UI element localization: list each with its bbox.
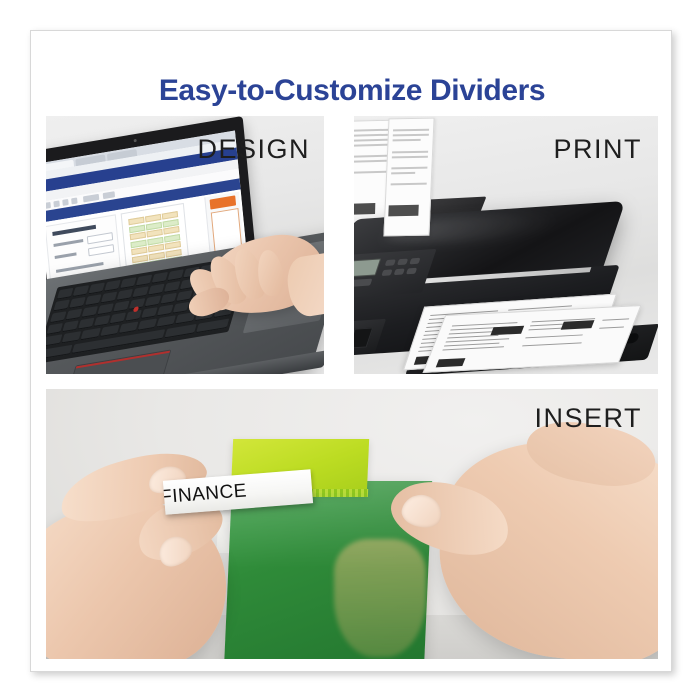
key[interactable]: [62, 331, 82, 343]
key[interactable]: [113, 301, 130, 313]
printed-text-line: [442, 346, 504, 350]
printer-button[interactable]: [397, 259, 408, 266]
sheet-text-line: [392, 151, 428, 153]
toolbar-icon: [103, 191, 115, 199]
form-heading: [52, 225, 96, 236]
key[interactable]: [50, 311, 67, 323]
printed-tab-bar: [436, 358, 466, 367]
printer-power-button[interactable]: [354, 279, 372, 288]
laptop-illustration: [46, 140, 324, 374]
toolbar-icon: [46, 202, 51, 209]
key[interactable]: [46, 323, 63, 335]
sheet-text-line: [354, 171, 387, 173]
panel-caption-design: DESIGN: [197, 134, 310, 165]
printer-button[interactable]: [409, 258, 420, 265]
key[interactable]: [141, 307, 158, 319]
key[interactable]: [46, 345, 72, 360]
form-label: [55, 252, 77, 259]
form-input[interactable]: [87, 232, 113, 244]
panel-print[interactable]: PRINT: [354, 116, 658, 374]
toolbar-icon: [53, 200, 59, 207]
panel-caption-print: PRINT: [554, 134, 643, 165]
sheet-text-line: [393, 129, 429, 131]
key[interactable]: [81, 328, 101, 340]
key[interactable]: [53, 299, 70, 311]
preview-header-band: [210, 195, 237, 209]
key[interactable]: [73, 285, 90, 297]
label-text: FINANCE: [163, 480, 248, 509]
sheet-text-line: [354, 144, 392, 147]
key[interactable]: [46, 334, 63, 346]
key[interactable]: [148, 284, 165, 296]
printed-text-line: [602, 318, 629, 321]
panel-caption-insert: INSERT: [534, 403, 642, 434]
key[interactable]: [94, 315, 111, 327]
form-label: [53, 239, 83, 247]
key[interactable]: [100, 325, 120, 337]
key[interactable]: [57, 288, 74, 300]
sheet-tab-bar: [354, 203, 375, 215]
key[interactable]: [78, 318, 95, 330]
printer-lcd-display: [354, 258, 381, 277]
sheet-text-line: [393, 139, 421, 141]
toolbar-icon: [62, 199, 68, 206]
sheet-text-line: [391, 167, 427, 169]
printer-button[interactable]: [394, 269, 405, 276]
key[interactable]: [81, 306, 98, 318]
key[interactable]: [97, 303, 114, 315]
key[interactable]: [132, 286, 149, 298]
key[interactable]: [101, 292, 118, 304]
product-feature-card: Easy-to-Customize Dividers: [30, 30, 672, 672]
key[interactable]: [88, 282, 105, 294]
sheet-text-line: [392, 156, 428, 158]
sheet-text-line: [393, 134, 429, 136]
webcam-icon: [133, 139, 136, 142]
key[interactable]: [120, 277, 137, 289]
panel-insert[interactable]: FINANCE INSERT: [46, 389, 658, 659]
key[interactable]: [66, 309, 83, 321]
panel-design[interactable]: DESIGN: [46, 116, 324, 374]
cartridge-slot: [354, 327, 373, 348]
key[interactable]: [116, 289, 133, 301]
key[interactable]: [160, 293, 177, 305]
template-cell-grid: [128, 211, 182, 263]
printed-tab-bar: [490, 326, 524, 336]
key[interactable]: [145, 295, 162, 307]
key[interactable]: [164, 281, 181, 293]
key[interactable]: [136, 275, 153, 287]
printed-tab-bar: [561, 320, 595, 330]
printer-button[interactable]: [406, 268, 417, 275]
printed-text-line: [525, 334, 583, 338]
right-hand: [384, 411, 658, 659]
key[interactable]: [69, 297, 86, 309]
printed-text-line: [522, 342, 582, 346]
sheet-text-line: [391, 183, 427, 185]
key[interactable]: [109, 312, 126, 324]
printed-text-line: [599, 326, 624, 329]
key[interactable]: [151, 272, 168, 284]
printed-sheet: [423, 305, 642, 373]
page-title: Easy-to-Customize Dividers: [31, 74, 672, 108]
key[interactable]: [85, 294, 102, 306]
toolbar-icon: [71, 197, 77, 204]
printer-button[interactable]: [385, 259, 396, 266]
sheet-text-line: [391, 172, 415, 174]
feed-sheet: [383, 118, 434, 237]
printer-button[interactable]: [381, 269, 392, 276]
key[interactable]: [157, 304, 174, 316]
screenshot-root: Easy-to-Customize Dividers: [0, 0, 700, 700]
key[interactable]: [157, 315, 177, 327]
key[interactable]: [119, 321, 139, 333]
key[interactable]: [104, 280, 121, 292]
key[interactable]: [138, 318, 158, 330]
key[interactable]: [62, 320, 79, 332]
form-input[interactable]: [88, 244, 114, 256]
sheet-tab-bar: [388, 205, 419, 217]
hand-on-keyboard: [180, 228, 324, 348]
